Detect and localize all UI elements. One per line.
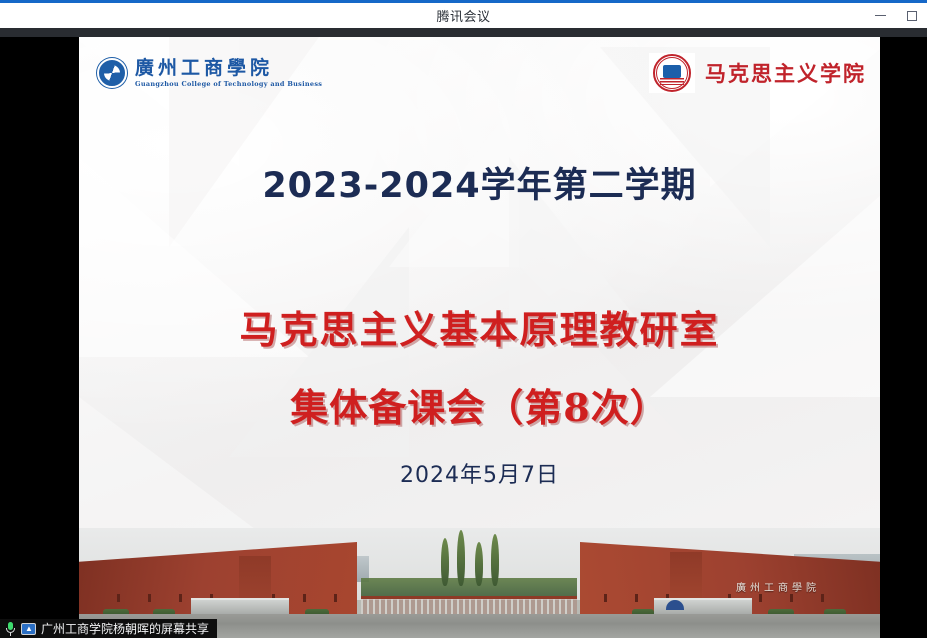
screen-share-status-bar: ▲ 广州工商学院杨朝晖的屏幕共享 xyxy=(0,619,217,638)
guangzhou-college-seal-icon xyxy=(97,58,127,88)
maximize-button[interactable] xyxy=(896,3,927,28)
campus-wall-sign: 廣州工商學院 xyxy=(736,579,820,594)
school-of-marxism-seal-icon xyxy=(649,53,695,93)
slide-date: 2024年5月7日 xyxy=(79,457,880,489)
window-controls xyxy=(865,3,927,28)
slide-heading-line-1: 马克思主义基本原理教研室 xyxy=(79,299,880,354)
stage-top-strip xyxy=(0,28,927,37)
maximize-icon xyxy=(907,11,917,21)
window-titlebar[interactable]: 腾讯会议 xyxy=(0,3,927,28)
marxism-school-name: 马克思主义学院 xyxy=(705,58,866,88)
college-name-en: Guangzhou College of Technology and Busi… xyxy=(135,81,322,88)
marxism-school-logo: 马克思主义学院 xyxy=(649,53,866,93)
college-name-cn: 廣州工商學院 xyxy=(135,59,322,78)
meeting-stage[interactable]: 廣州工商學院 Guangzhou College of Technology a… xyxy=(0,28,927,638)
tencent-meeting-window: 腾讯会议 廣州工商學院 xyxy=(0,0,927,638)
microphone-icon[interactable] xyxy=(5,622,16,636)
slide-term-title: 2023-2024学年第二学期 xyxy=(79,157,880,208)
minimize-icon xyxy=(875,15,886,16)
screen-share-icon[interactable]: ▲ xyxy=(21,623,36,635)
window-title: 腾讯会议 xyxy=(436,6,490,25)
shared-slide[interactable]: 廣州工商學院 Guangzhou College of Technology a… xyxy=(79,37,880,638)
minimize-button[interactable] xyxy=(865,3,896,28)
slide-header: 廣州工商學院 Guangzhou College of Technology a… xyxy=(79,37,880,109)
slide-heading-line-2: 集体备课会（第8次） xyxy=(79,377,880,432)
college-logo: 廣州工商學院 Guangzhou College of Technology a… xyxy=(97,58,322,88)
screen-share-label: 广州工商学院杨朝晖的屏幕共享 xyxy=(41,620,209,637)
